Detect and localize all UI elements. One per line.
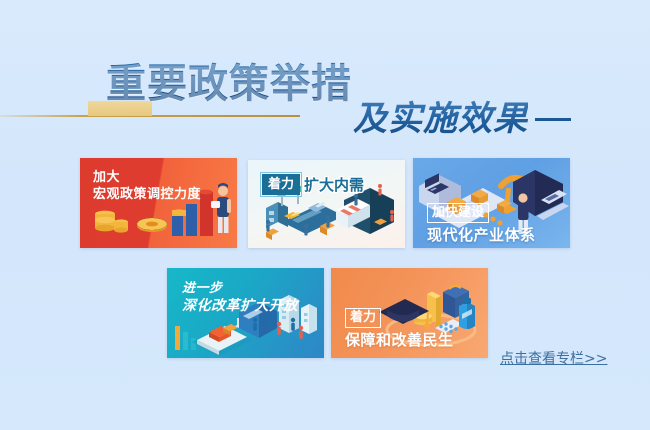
banner-title-block: 重要政策举措 及实施效果 [0,52,650,152]
page-title-line-1: 重要政策举措 [106,62,352,106]
policy-card-2-label-top: 着力 [262,174,300,195]
view-column-link[interactable]: 点击查看专栏>> [500,350,607,368]
policy-card-modern-industry[interactable]: 加快建设 现代化产业体系 [413,158,570,248]
page-title-line-2: 及实施效果 [353,100,528,138]
policy-card-5-label: 着力 保障和改善民生 [345,308,454,349]
policy-card-4-label-bottom: 深化改革扩大开放 [182,297,298,315]
policy-card-1-label-bottom: 宏观政策调控力度 [93,186,201,203]
policy-card-3-label-bottom: 现代化产业体系 [427,227,536,244]
policy-card-macro-regulation[interactable]: 加大 宏观政策调控力度 [80,158,237,248]
policy-card-4-label: 进一步 深化改革扩大开放 [182,281,298,315]
policy-card-3-label-top: 加快建设 [427,203,489,223]
policy-card-reform-opening[interactable]: 进一步 深化改革扩大开放 [167,268,324,358]
policy-card-2-label-bottom: 扩大内需 [304,177,364,193]
policy-card-livelihood[interactable]: 着力 保障和改善民生 [331,268,488,358]
policy-card-3-label: 加快建设 现代化产业体系 [427,203,536,244]
policy-card-5-label-top: 着力 [345,308,381,328]
policy-card-1-label: 加大 宏观政策调控力度 [93,170,201,203]
policy-card-2-label: 着力扩大内需 [262,174,364,195]
policy-card-expand-demand[interactable]: 着力扩大内需 [248,160,405,248]
policy-card-5-label-bottom: 保障和改善民生 [345,332,454,349]
policy-card-4-label-top: 进一步 [182,281,298,297]
policy-card-1-label-top: 加大 [93,170,201,186]
title-end-dash [535,118,571,121]
